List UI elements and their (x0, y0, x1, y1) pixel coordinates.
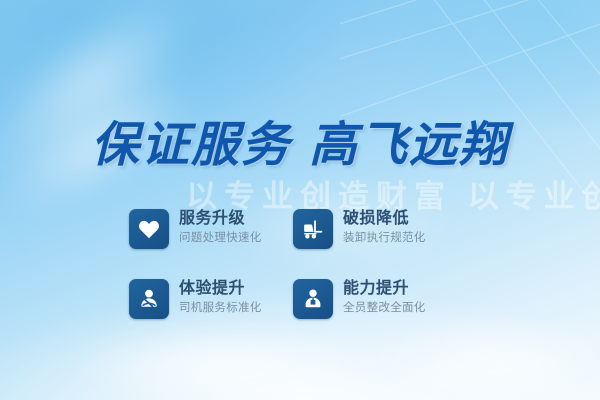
headline-part-two: 高飞远翔 (309, 119, 509, 172)
feature-title: 能力提升 (343, 278, 426, 299)
feature-subtitle: 全员整改全面化 (343, 300, 426, 317)
feature-item-capability-upgrade[interactable]: 能力提升 全员整改全面化 (293, 277, 453, 347)
feature-subtitle: 装卸执行规范化 (343, 230, 426, 247)
feature-title: 破损降低 (343, 208, 426, 229)
feature-text-block: 能力提升 全员整改全面化 (343, 277, 426, 317)
feature-item-experience-upgrade[interactable]: 体验提升 司机服务标准化 (129, 277, 289, 347)
feature-item-damage-reduction[interactable]: 破损降低 装卸执行规范化 (293, 207, 453, 277)
banner-canvas: 以专业创造财富 以专业创造财富 以专业 保证服务高飞远翔 服务升级 问题处理快速… (0, 0, 600, 400)
staff-person-icon (293, 279, 333, 319)
feature-title: 体验提升 (179, 278, 262, 299)
driver-person-icon (129, 279, 169, 319)
feature-subtitle: 司机服务标准化 (179, 300, 262, 317)
feature-text-block: 破损降低 装卸执行规范化 (343, 207, 426, 247)
feature-subtitle: 问题处理快速化 (179, 230, 262, 247)
feature-text-block: 体验提升 司机服务标准化 (179, 277, 262, 317)
heart-icon (129, 209, 169, 249)
feature-text-block: 服务升级 问题处理快速化 (179, 207, 262, 247)
feature-item-service-upgrade[interactable]: 服务升级 问题处理快速化 (129, 207, 289, 277)
feature-title: 服务升级 (179, 208, 262, 229)
forklift-icon (293, 209, 333, 249)
headline-part-one: 保证服务 (91, 119, 291, 172)
page-title: 保证服务高飞远翔 (0, 118, 600, 174)
feature-grid: 服务升级 问题处理快速化 破损降低 装卸执行规范化 (129, 207, 453, 347)
